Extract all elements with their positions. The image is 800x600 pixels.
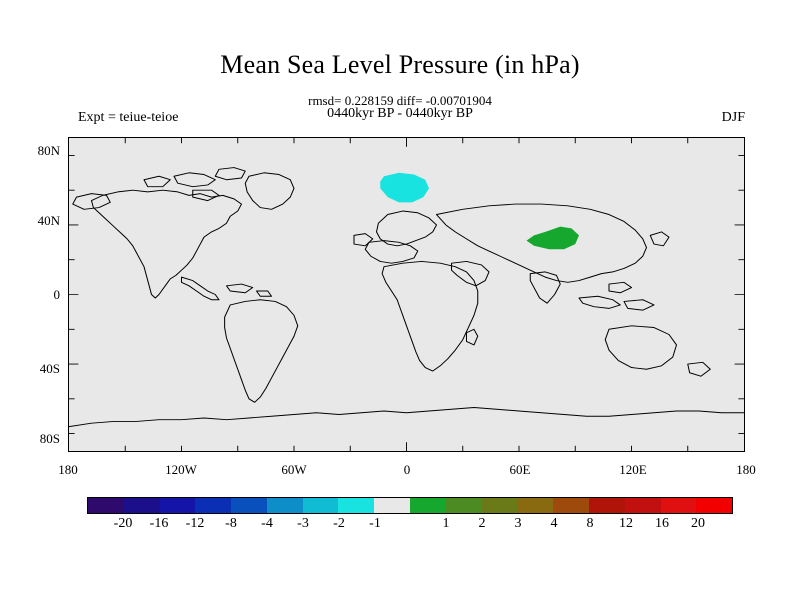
colorbar-swatch-2 (160, 498, 196, 513)
colorbar-swatch-12 (517, 498, 553, 513)
xtick-label-120w: 120W (151, 462, 211, 478)
page-title: Mean Sea Level Pressure (in hPa) (0, 50, 800, 80)
xtick-label-60e: 60E (490, 462, 550, 478)
colorbar-tick-labels: -20 -16 -12 -8 -4 -3 -2 -1 1 2 3 4 8 12 … (87, 516, 733, 536)
anomaly-patches-group (380, 173, 579, 250)
xtick-label-120e: 120E (603, 462, 663, 478)
coastline-antarctica (69, 408, 744, 427)
coastline-indonesia-2 (624, 300, 654, 310)
colorbar-swatch-8 (374, 498, 410, 513)
colorbar-swatch-16 (661, 498, 697, 513)
colorbar-swatch-13 (553, 498, 589, 513)
coastline-central-america (182, 277, 220, 300)
colorbar-tick-neg16: -16 (150, 516, 169, 532)
ytick-label-0: 0 (14, 287, 60, 303)
coastline-cuba (227, 284, 253, 293)
coastline-hispaniola (257, 291, 272, 296)
colorbar-swatch-1 (124, 498, 160, 513)
anomaly-norwegian-barents-sea (380, 173, 429, 203)
colorbar-tick-neg3: -3 (297, 516, 309, 532)
colorbar-tick-pos20: 20 (691, 516, 705, 532)
colorbar-swatch-10 (446, 498, 482, 513)
colorbar-tick-pos8: 8 (587, 516, 594, 532)
colorbar-swatch-5 (267, 498, 303, 513)
coastline-western-europe (365, 241, 418, 264)
ytick-label-80n: 80N (14, 143, 60, 159)
anomaly-tibetan-plateau (527, 227, 580, 250)
coastline-south-america (225, 300, 298, 403)
ytick-label-40n: 40N (14, 213, 60, 229)
experiment-label: Expt = teiue-teioe (78, 110, 178, 126)
coastline-new-zealand (688, 362, 711, 376)
colorbar-swatch-9 (410, 498, 446, 513)
coastline-australia (605, 326, 676, 369)
colorbar-swatch-3 (195, 498, 231, 513)
coastline-arabia (452, 261, 490, 285)
coastline-madagascar (467, 329, 478, 345)
xtick-label-180e: 180 (716, 462, 776, 478)
colorbar-swatch-17 (696, 498, 732, 513)
colorbar-tick-pos12: 12 (619, 516, 633, 532)
xtick-label-60w: 60W (264, 462, 324, 478)
ytick-label-80s: 80S (14, 431, 60, 447)
colorbar-tick-neg1: -1 (369, 516, 381, 532)
xtick-label-180w: 180 (38, 462, 98, 478)
colorbar-swatch-15 (625, 498, 661, 513)
coastline-arctic-islands-2 (215, 168, 245, 180)
world-map-svg (69, 138, 744, 451)
coastline-arctic-islands-3 (144, 176, 170, 186)
figure-canvas: Mean Sea Level Pressure (in hPa) rmsd= 0… (0, 0, 800, 600)
colorbar-tick-neg4: -4 (261, 516, 273, 532)
colorbar-swatch-7 (338, 498, 374, 513)
coastline-british-isles (354, 234, 373, 246)
coastlines-group (69, 168, 744, 427)
colorbar-tick-pos3: 3 (515, 516, 522, 532)
coastline-africa (382, 261, 478, 371)
colorbar-swatch-4 (231, 498, 267, 513)
colorbar-tick-neg20: -20 (114, 516, 133, 532)
colorbar-swatch-0 (88, 498, 124, 513)
colorbar-tick-neg8: -8 (225, 516, 237, 532)
colorbar-tick-pos2: 2 (479, 516, 486, 532)
xtick-label-0: 0 (377, 462, 437, 478)
season-label: DJF (722, 110, 745, 126)
coastline-greenland (245, 173, 294, 210)
colorbar-swatch-14 (589, 498, 625, 513)
ytick-label-40s: 40S (14, 361, 60, 377)
map-plot-area (68, 137, 745, 452)
coastline-japan (650, 232, 669, 246)
coastline-arctic-islands-1 (174, 173, 215, 187)
colorbar-swatch-6 (303, 498, 339, 513)
coastline-indonesia-1 (579, 296, 620, 308)
coastline-indochina (609, 282, 632, 292)
colorbar-tick-pos1: 1 (443, 516, 450, 532)
colorbar-swatch-11 (482, 498, 518, 513)
colorbar-tick-neg12: -12 (186, 516, 205, 532)
colorbar-tick-pos4: 4 (551, 516, 558, 532)
colorbar-tick-neg2: -2 (333, 516, 345, 532)
colorbar (87, 497, 733, 514)
coastline-north-america (92, 190, 242, 298)
colorbar-tick-pos16: 16 (655, 516, 669, 532)
